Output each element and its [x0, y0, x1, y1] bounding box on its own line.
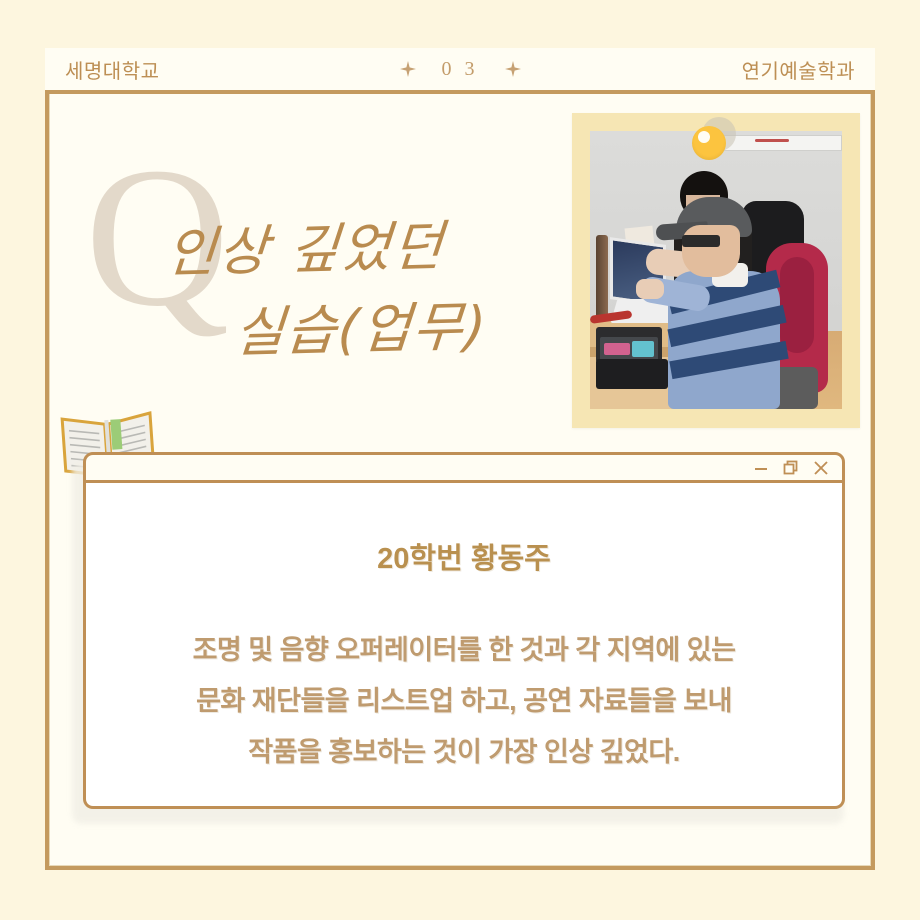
student-name: 20학번 황동주: [86, 535, 842, 577]
page-number: 0 3: [442, 58, 479, 81]
answer-paragraph: 조명 및 음향 오퍼레이터를 한 것과 각 지역에 있는 문화 재단들을 리스트…: [86, 625, 842, 778]
title-line-1: 인상 깊었던: [164, 201, 448, 287]
quote-window: 20학번 황동주 조명 및 음향 오퍼레이터를 한 것과 각 지역에 있는 문화…: [83, 452, 845, 809]
header-bar: 세명대학교 0 3 연기예술학과: [45, 48, 875, 94]
maximize-icon[interactable]: [782, 459, 800, 477]
answer-line: 문화 재단들을 리스트업 하고, 공연 자료들을 보내: [86, 676, 842, 727]
close-icon[interactable]: [812, 459, 830, 477]
answer-line: 조명 및 음향 오퍼레이터를 한 것과 각 지역에 있는: [86, 625, 842, 676]
question-title: Q 인상 깊었던 실습(업무): [85, 150, 555, 380]
title-line-2: 실습(업무): [232, 282, 492, 368]
card-news-page: 세명대학교 0 3 연기예술학과 Q 인상 깊었던 실습(업무): [0, 0, 920, 920]
window-controls: [752, 459, 842, 477]
answer-line: 작품을 홍보하는 것이 가장 인상 깊었다.: [86, 727, 842, 778]
yellow-pin-icon: [692, 126, 726, 160]
department-name: 연기예술학과: [742, 55, 855, 84]
sparkle-icon: [505, 61, 521, 77]
photo-image: [590, 131, 842, 409]
minimize-icon[interactable]: [752, 459, 770, 477]
window-titlebar: [83, 452, 845, 483]
window-body: 20학번 황동주 조명 및 음향 오퍼레이터를 한 것과 각 지역에 있는 문화…: [83, 483, 845, 809]
sparkle-icon: [400, 61, 416, 77]
photo-card: [572, 113, 860, 428]
